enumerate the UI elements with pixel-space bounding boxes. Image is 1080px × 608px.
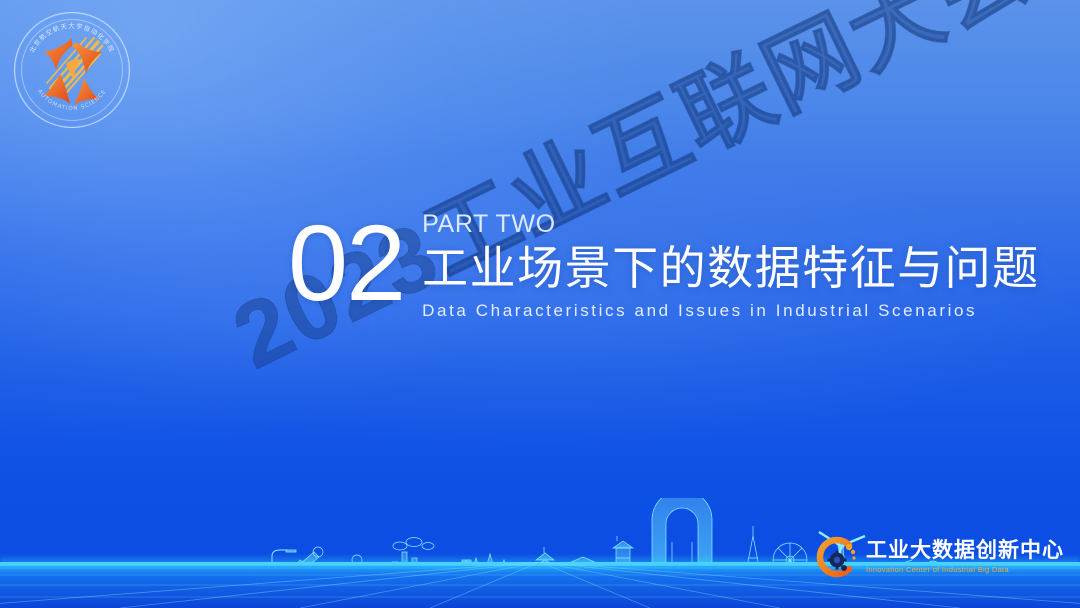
university-seal-logo: 北京航空航天大学自动化学院 AUTOMATION SCIENCE — [14, 12, 130, 128]
seal-artwork: 北京航空航天大学自动化学院 AUTOMATION SCIENCE — [14, 12, 130, 128]
presentation-slide: 北京航空航天大学自动化学院 AUTOMATION SCIENCE 2023工业互… — [0, 0, 1080, 608]
corporate-name-en: Innovation Center of Industrial Big Data — [866, 565, 1064, 574]
page-subtitle: Data Characteristics and Issues in Indus… — [422, 301, 1040, 321]
innovation-center-mark-icon — [813, 534, 859, 580]
corporate-logo: 工业大数据创新中心 Innovation Center of Industria… — [813, 534, 1064, 580]
part-label: PART TWO — [422, 212, 1040, 237]
corporate-logo-text: 工业大数据创新中心 Innovation Center of Industria… — [866, 540, 1064, 573]
page-title: 工业场景下的数据特征与问题 — [422, 243, 1040, 295]
section-title-block: 02 PART TWO 工业场景下的数据特征与问题 Data Character… — [288, 206, 1040, 321]
corporate-name-cn: 工业大数据创新中心 — [866, 540, 1064, 562]
seal-ring-text-top: 北京航空航天大学自动化学院 — [28, 21, 117, 54]
seal-ring-text-bottom: AUTOMATION SCIENCE — [36, 89, 108, 112]
title-text-group: PART TWO 工业场景下的数据特征与问题 Data Characterist… — [422, 206, 1040, 321]
section-number: 02 — [288, 210, 404, 316]
